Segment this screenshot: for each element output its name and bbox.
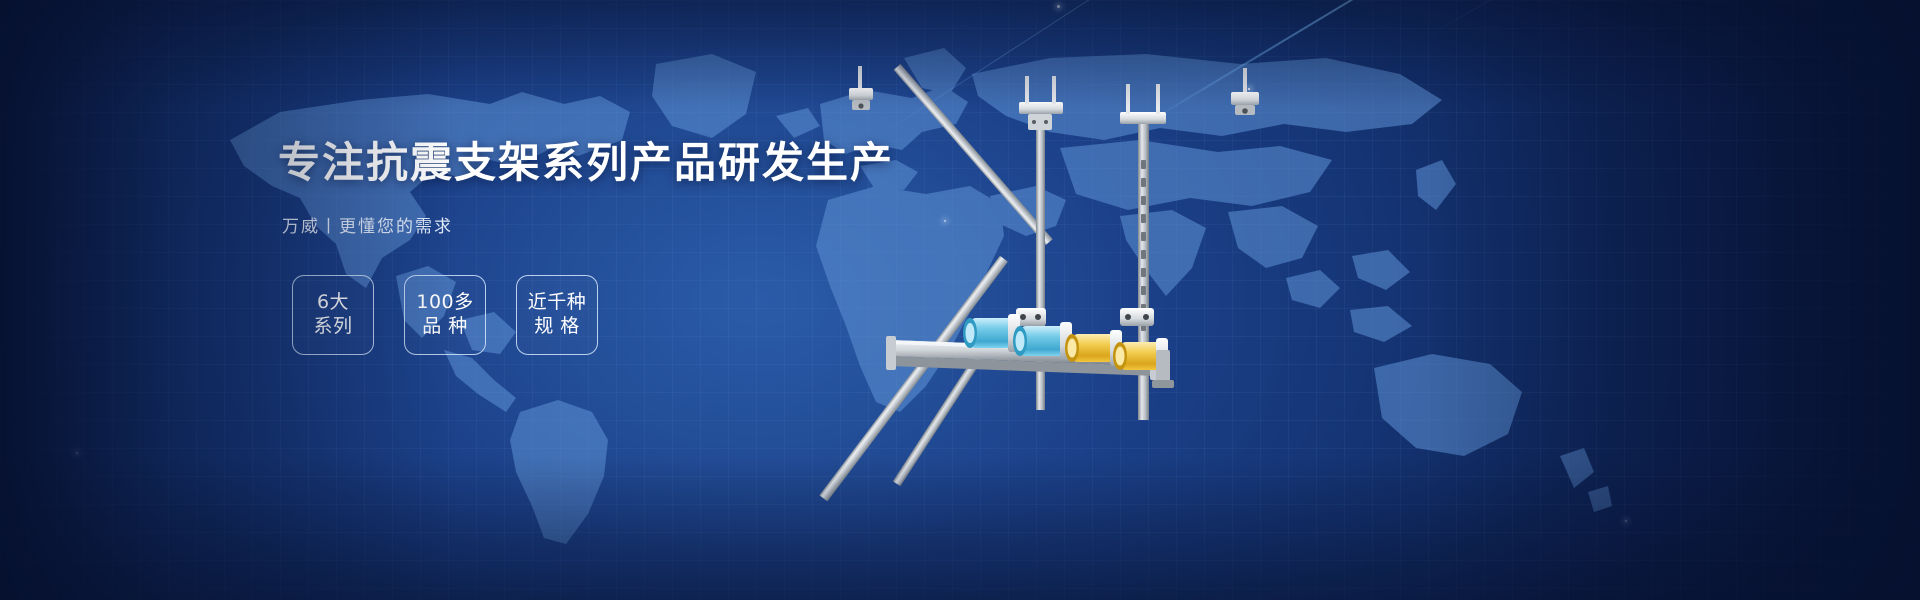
badge-list: 6大 系列 100多 品 种 近千种 规 格: [292, 275, 798, 355]
badge-line-2: 系列: [313, 315, 352, 339]
badge-line-1: 100多: [416, 291, 473, 315]
base-foot-right: [1152, 350, 1174, 388]
channel-rail: [886, 336, 1160, 380]
joint-plate-left: [1016, 308, 1046, 326]
badge-varieties[interactable]: 100多 品 种: [404, 275, 486, 355]
strut-vertical-left: [1019, 76, 1063, 410]
spark-dot: [944, 220, 946, 222]
spark-dot: [76, 452, 78, 454]
spark-dot: [1248, 88, 1250, 90]
light-ray: [1420, 0, 1680, 41]
pipe-blue-1: [963, 314, 1020, 352]
pipe-yellow-1: [1065, 330, 1122, 366]
strut-diagonal-right-short: [893, 355, 982, 486]
badge-line-2: 品 种: [422, 315, 468, 339]
badge-line-1: 近千种: [528, 291, 587, 315]
strut-vertical-perforated: [1120, 84, 1166, 420]
spark-dot: [1625, 520, 1627, 522]
light-ray: [1149, 0, 1519, 122]
banner-subline: 万威丨更懂您的需求: [282, 212, 798, 237]
spark-dot: [1057, 5, 1060, 8]
pipe-group: [963, 314, 1168, 374]
bracing-assembly: [819, 64, 1259, 501]
pipe-blue-2: [1013, 322, 1072, 360]
product-image: [820, 50, 1380, 410]
light-ray: [880, 0, 1182, 136]
strut-diagonal-right: [819, 68, 1259, 501]
banner-copy: 专注抗震支架系列产品研发生产 万威丨更懂您的需求 6大 系列 100多 品 种 …: [278, 140, 798, 355]
joint-plate-right: [1120, 308, 1154, 326]
badge-line-2: 规 格: [534, 315, 580, 339]
badge-series[interactable]: 6大 系列: [292, 275, 374, 355]
hero-banner: 专注抗震支架系列产品研发生产 万威丨更懂您的需求 6大 系列 100多 品 种 …: [0, 0, 1920, 600]
banner-headline: 专注抗震支架系列产品研发生产: [278, 140, 798, 186]
badge-line-1: 6大: [317, 291, 349, 315]
pipe-yellow-2: [1113, 338, 1168, 374]
badge-specifications[interactable]: 近千种 规 格: [516, 275, 598, 355]
